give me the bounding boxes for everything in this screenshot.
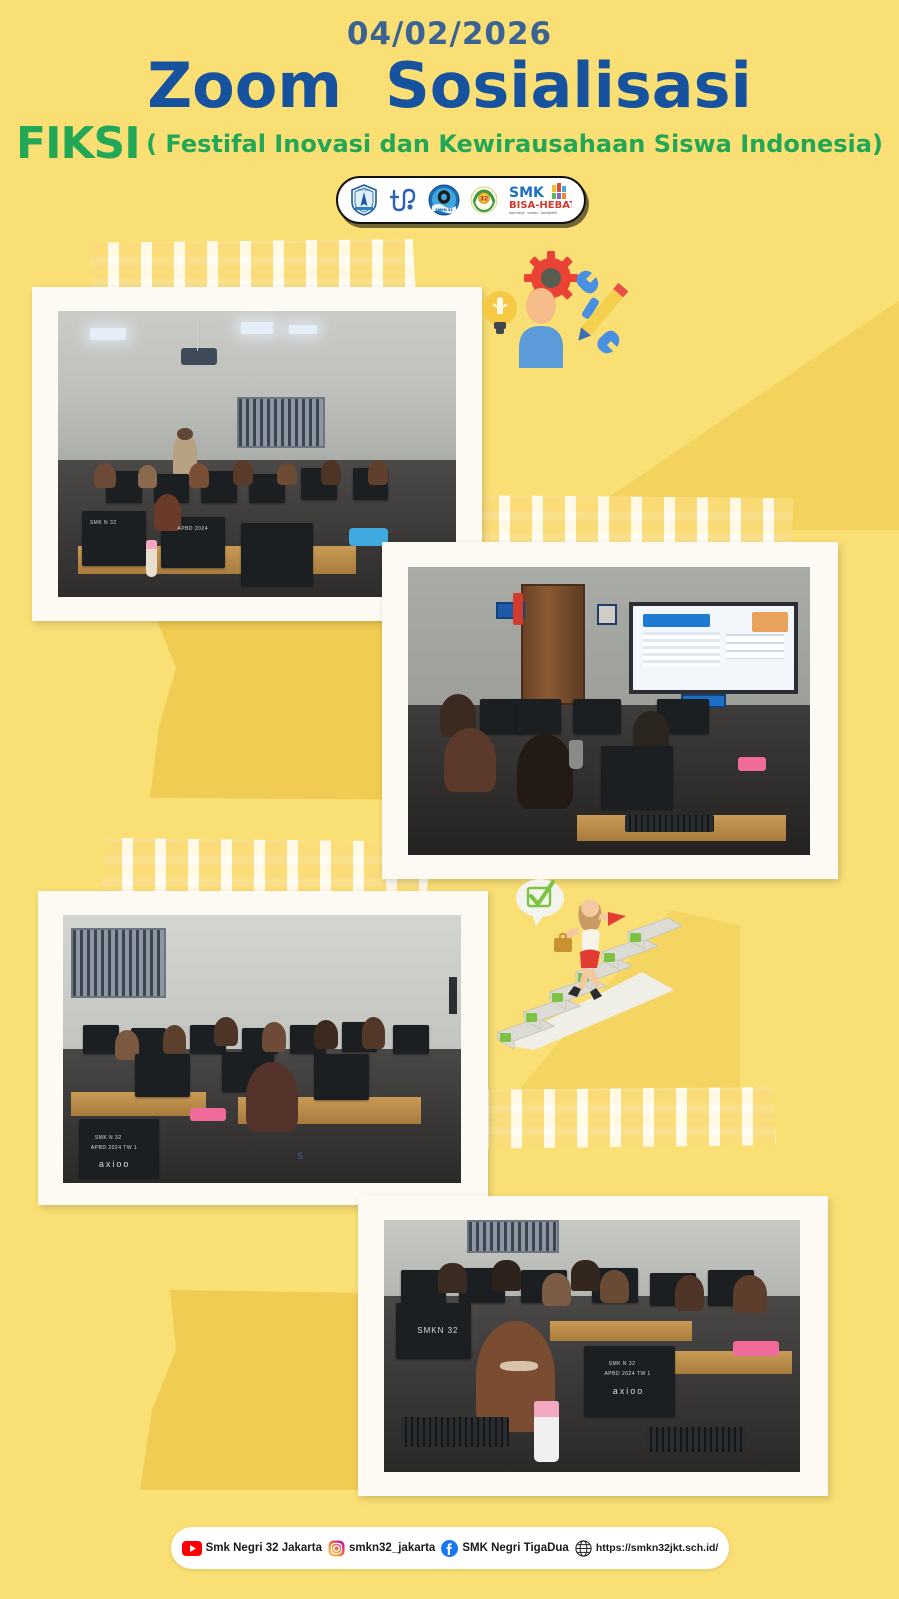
smk-bisa-hebat-primary-text: SMK [509, 185, 545, 201]
innovation-gear-lightbulb-illustration [478, 248, 628, 388]
footer-label-instagram: smkn32_jakarta [349, 1542, 435, 1554]
svg-text:SMKN 32: SMKN 32 [435, 208, 453, 212]
svg-text:JAYA RAYA: JAYA RAYA [357, 188, 371, 192]
fiksi-expansion: ( Festifal Inovasi dan Kewirausahaan Sis… [146, 130, 883, 158]
jakarta-provincial-emblem-logo: JAYA RAYA [350, 184, 378, 216]
svg-text:32: 32 [480, 195, 488, 202]
pencil-icon [573, 283, 628, 345]
page-title: Zoom Sosialisasi [0, 49, 899, 122]
career-stairs-runner-illustration [492, 872, 682, 1052]
globe-icon [575, 1540, 592, 1557]
smk-bisa-hebat-secondary-text: BISA-HEBAT [509, 200, 572, 211]
smk-negeri-32-school-logo: SMKN 32 [428, 184, 460, 216]
footer-label-youtube: Smk Negri 32 Jakarta [206, 1542, 322, 1554]
footer-item-website[interactable]: https://smkn32jkt.sch.id/ [575, 1540, 719, 1557]
smk-32-seal-logo: 32 [470, 186, 498, 214]
svg-text:siap kerja · cerdas · kompetit: siap kerja · cerdas · kompetitif [509, 211, 558, 215]
institution-logo-bar: JAYA RAYA SMKN 32 [336, 176, 586, 224]
subtitle-row: FIKSI ( Festifal Inovasi dan Kewirausaha… [0, 118, 899, 169]
poster-canvas: 04/02/2026 Zoom Sosialisasi FIKSI ( Fest… [0, 0, 899, 1599]
footer-item-instagram[interactable]: smkn32_jakarta [328, 1540, 435, 1557]
facebook-icon [441, 1540, 458, 1557]
photo-students-front-row: SMKN 32 SMK N 32 APBD 2024 TW 1 axioo [384, 1220, 800, 1472]
tut-wuri-handayani-logo [388, 185, 418, 215]
photo-frame-3: SMK N 32 APBD 2024 TW 1 axioo 5 [38, 891, 488, 1205]
washi-tape-4 [456, 1087, 776, 1149]
fiksi-acronym: FIKSI [16, 118, 140, 169]
footer-item-facebook[interactable]: SMK Negri TigaDua [441, 1540, 569, 1557]
youtube-icon [182, 1541, 202, 1556]
smk-bisa-hebat-logo: SMK BISA-HEBAT siap kerja · cerdas · kom… [508, 183, 572, 217]
person-icon [519, 288, 563, 368]
photo-students-watching-rows: SMK N 32 APBD 2024 TW 1 axioo 5 [63, 915, 461, 1183]
photo-zoom-presentation-screen [408, 567, 810, 855]
event-date: 04/02/2026 [0, 16, 899, 52]
instagram-icon [328, 1540, 345, 1557]
social-media-footer-bar: Smk Negri 32 Jakarta [171, 1527, 729, 1569]
footer-label-website: https://smkn32jkt.sch.id/ [596, 1542, 719, 1554]
footer-label-facebook: SMK Negri TigaDua [462, 1542, 569, 1554]
photo-frame-2 [382, 542, 838, 879]
lightbulb-icon [483, 291, 517, 334]
photo-frame-4: SMKN 32 SMK N 32 APBD 2024 TW 1 axioo [358, 1196, 828, 1496]
checklist-bubble-icon [516, 879, 564, 926]
footer-item-youtube[interactable]: Smk Negri 32 Jakarta [182, 1541, 322, 1556]
